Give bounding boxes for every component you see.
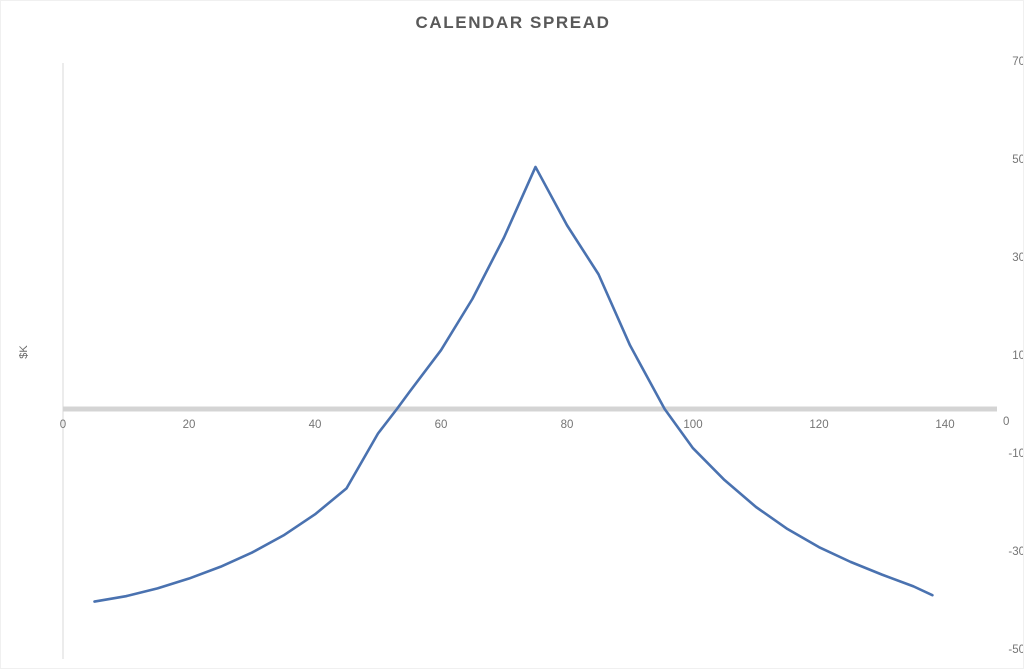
chart-container: CALENDAR SPREAD $K 70 50 30 10 0 -10 -30… — [0, 0, 1024, 669]
payoff-line-series — [95, 167, 933, 602]
plot-area — [1, 1, 1024, 669]
